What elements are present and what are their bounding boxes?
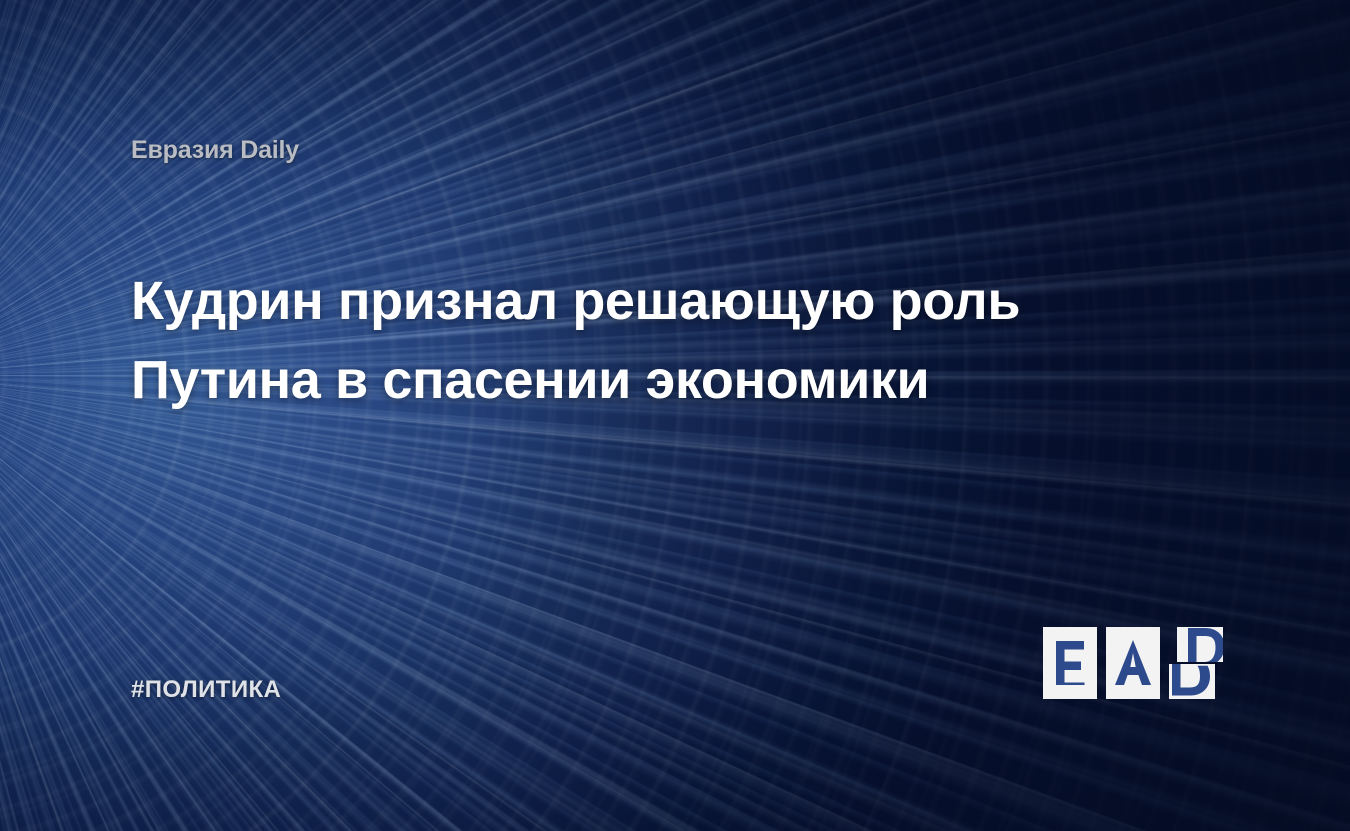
brand-name: Евразия Daily	[131, 136, 299, 165]
article-share-card: Евразия Daily Кудрин признал решающую ро…	[0, 0, 1350, 831]
card-content: Евразия Daily Кудрин признал решающую ро…	[0, 0, 1350, 831]
category-tag: #ПОЛИТИКА	[131, 676, 281, 704]
logo-tile-d	[1169, 627, 1223, 699]
eadaily-logo	[1043, 627, 1223, 699]
logo-tile-d-upper	[1169, 627, 1223, 662]
headline: Кудрин признал решающую роль Путина в сп…	[131, 262, 1051, 420]
logo-tile-e	[1043, 627, 1097, 699]
logo-tile-d-lower	[1169, 664, 1223, 699]
headline-line-2: Путина в спасении экономики	[131, 341, 1051, 420]
headline-line-1: Кудрин признал решающую роль	[131, 262, 1051, 341]
logo-tile-a	[1106, 627, 1160, 699]
